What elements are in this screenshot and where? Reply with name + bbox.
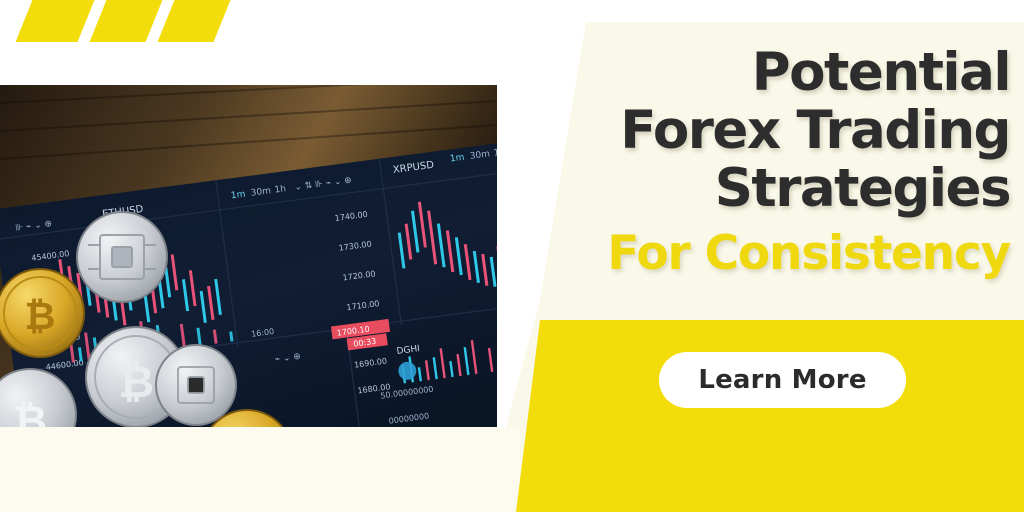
stripe-3 — [158, 0, 231, 42]
crypto-trading-photo: ⊪ ⌁ ⌄ ⊕ ETHUSD 1m 30m 1h ⌄ ⇅ ⊪ ⌁ ⌄ ⊕ XRP… — [0, 85, 497, 427]
headline-block: Potential Forex Trading Strategies For C… — [520, 44, 1010, 282]
cream-bottom-strip — [0, 427, 520, 512]
stripe-1 — [16, 0, 95, 42]
svg-text:₿: ₿ — [25, 294, 56, 338]
headline-line-2: Forex Trading — [520, 102, 1010, 160]
subheadline: For Consistency — [520, 226, 1010, 282]
svg-text:1m: 1m — [449, 153, 465, 165]
decorative-stripes — [0, 0, 230, 46]
svg-text:1h: 1h — [274, 184, 287, 195]
headline-line-3: Strategies — [520, 160, 1010, 218]
promo-banner: ⊪ ⌁ ⌄ ⊕ ETHUSD 1m 30m 1h ⌄ ⇅ ⊪ ⌁ ⌄ ⊕ XRP… — [0, 0, 1024, 512]
learn-more-button[interactable]: Learn More — [659, 352, 906, 408]
svg-text:1m: 1m — [230, 190, 246, 202]
headline-line-1: Potential — [520, 44, 1010, 102]
svg-text:₿: ₿ — [118, 357, 154, 408]
photo-illustration: ⊪ ⌁ ⌄ ⊕ ETHUSD 1m 30m 1h ⌄ ⇅ ⊪ ⌁ ⌄ ⊕ XRP… — [0, 85, 497, 427]
stripe-2 — [90, 0, 163, 42]
svg-text:1h: 1h — [493, 147, 497, 158]
svg-text:₿: ₿ — [13, 396, 47, 427]
